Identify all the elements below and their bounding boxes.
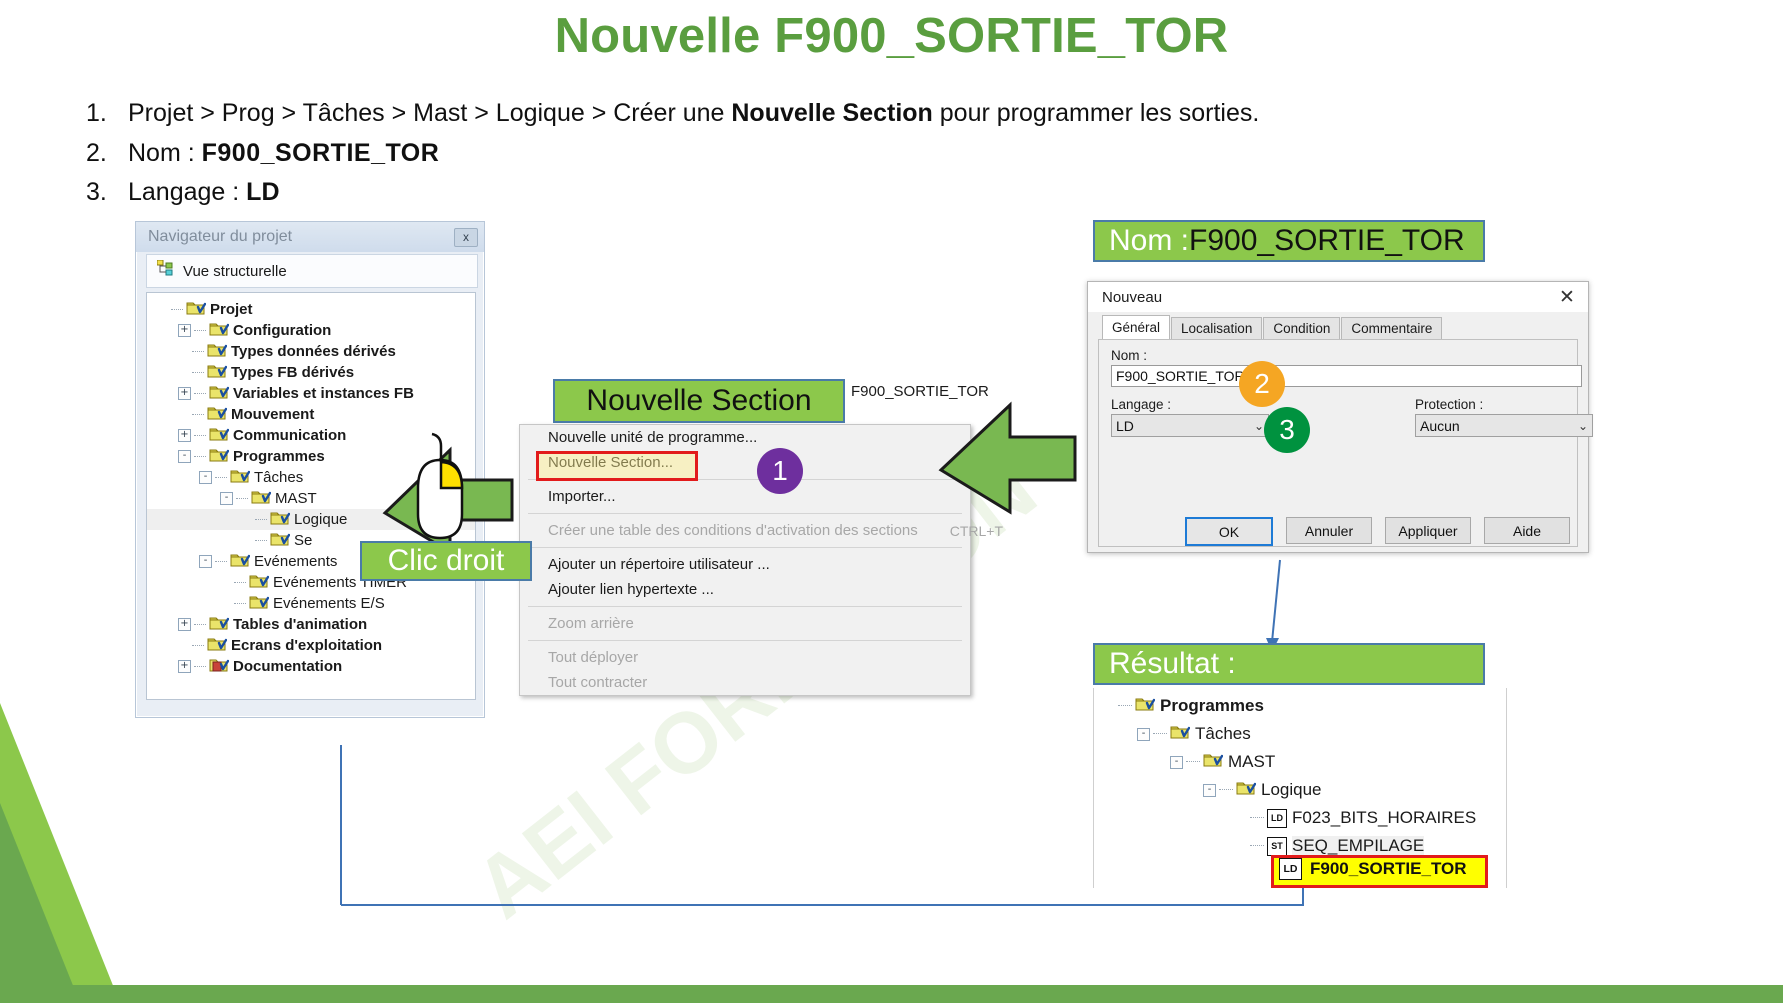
tree-item-configuration[interactable]: +Configuration — [147, 320, 475, 341]
tree-toggle[interactable]: + — [178, 324, 191, 337]
tree-item-types-fb-d-riv-s[interactable]: Types FB dérivés — [147, 362, 475, 383]
result-tree-item-label: SEQ_EMPILAGE — [1292, 836, 1424, 856]
documentation-icon — [209, 657, 229, 677]
result-tree-item-mast[interactable]: -MAST — [1098, 748, 1506, 776]
list-item: 3. Langage : LD — [86, 175, 1586, 211]
step-badge-3: 3 — [1264, 407, 1310, 453]
dialog-general-pane: Nom : F900_SORTIE_TOR Langage : LD⌄ Prot… — [1098, 339, 1578, 547]
tab-localisation[interactable]: Localisation — [1171, 317, 1262, 339]
menu-item-label: Importer... — [548, 488, 616, 505]
project-tree: Projet+ConfigurationTypes données dérivé… — [147, 293, 475, 677]
folder-icon — [270, 510, 290, 530]
result-tree-item-t-ches[interactable]: -Tâches — [1098, 720, 1506, 748]
result-highlighted-item[interactable]: LD F900_SORTIE_TOR — [1279, 858, 1467, 880]
result-tree-item-label: Tâches — [1195, 724, 1251, 744]
result-highlighted-label: F900_SORTIE_TOR — [1310, 859, 1467, 879]
list-item: 2. Nom : F900_SORTIE_TOR — [86, 136, 1586, 172]
nouveau-dialog: Nouveau ✕ GénéralLocalisationConditionCo… — [1087, 281, 1589, 553]
menu-separator — [528, 606, 962, 607]
result-tree-item-logique[interactable]: -Logique — [1098, 776, 1506, 804]
menu-separator — [528, 640, 962, 641]
navigator-titlebar: Navigateur du projet x — [136, 222, 484, 252]
nom-label: Nom : — [1111, 348, 1565, 363]
tree-toggle-spacer — [178, 367, 189, 378]
dialog-buttons: OKAnnulerAppliquerAide — [1088, 517, 1588, 546]
protection-label: Protection : — [1415, 397, 1593, 412]
step-text: Projet > Prog > Tâches > Mast > Logique … — [128, 96, 1259, 132]
folder-icon — [209, 426, 229, 446]
tree-toggle-spacer — [1104, 701, 1115, 712]
list-item: 1. Projet > Prog > Tâches > Mast > Logiq… — [86, 96, 1586, 132]
result-tree-item-label: F023_BITS_HORAIRES — [1292, 808, 1476, 828]
dialog-tabs: GénéralLocalisationConditionCommentaire — [1102, 316, 1588, 339]
folder-icon — [207, 342, 227, 362]
tree-toggle-spacer — [157, 304, 168, 315]
folder-icon — [209, 384, 229, 404]
tree-toggle[interactable]: - — [1170, 756, 1183, 769]
tree-item-label: Variables et instances FB — [233, 385, 414, 402]
project-navigator-window: Navigateur du projet x Vue structurelle … — [135, 221, 485, 718]
bottom-accent-bar — [0, 985, 1783, 1003]
tab-vue-structurelle[interactable]: Vue structurelle — [146, 254, 478, 288]
tab-label: Vue structurelle — [183, 263, 287, 280]
corner-decoration — [0, 583, 150, 1003]
chevron-down-icon: ⌄ — [1254, 419, 1264, 433]
section-preview-label: F900_SORTIE_TOR — [851, 383, 989, 400]
tree-item-ev-nements-e-s[interactable]: Evénements E/S — [147, 593, 475, 614]
menu-item-tout-contracter: Tout contracter — [520, 670, 970, 695]
result-tree-item-programmes[interactable]: Programmes — [1098, 692, 1506, 720]
result-tree-item-f023-bits-horaires[interactable]: LDF023_BITS_HORAIRES — [1098, 804, 1506, 832]
folder-icon — [209, 615, 229, 635]
page-title: Nouvelle F900_SORTIE_TOR — [0, 8, 1783, 64]
section-preview-item: LD F900_SORTIE_TOR — [824, 382, 989, 401]
tree-item-label: Evénements E/S — [273, 595, 385, 612]
tree-item-label: Tables d'animation — [233, 616, 367, 633]
tree-toggle[interactable]: - — [1137, 728, 1150, 741]
menu-item-label: Zoom arrière — [548, 615, 634, 632]
folder-icon — [1236, 780, 1256, 801]
callout-nom: Nom : F900_SORTIE_TOR — [1093, 220, 1485, 262]
step-number: 2. — [86, 136, 128, 172]
ok-button[interactable]: OK — [1185, 517, 1273, 546]
tab-condition[interactable]: Condition — [1263, 317, 1340, 339]
tab-commentaire[interactable]: Commentaire — [1341, 317, 1442, 339]
tree-item-programmes[interactable]: -Programmes — [147, 446, 475, 467]
tree-toggle-spacer — [241, 514, 252, 525]
folder-icon — [249, 594, 269, 614]
step-text: Langage : LD — [128, 175, 280, 211]
folder-icon — [209, 321, 229, 341]
folder-icon — [1170, 724, 1190, 745]
tree-item-label: Ecrans d'exploitation — [231, 637, 382, 654]
result-tree-item-label: Programmes — [1160, 696, 1264, 716]
tree-toggle-spacer — [220, 598, 231, 609]
menu-item-tout-d-ployer: Tout déployer — [520, 645, 970, 670]
folder-icon — [230, 468, 250, 488]
tree-item-projet[interactable]: Projet — [147, 299, 475, 320]
menu-item-label: Nouvelle unité de programme... — [548, 429, 757, 446]
menu-item-ajouter-un-r-pertoire-utilisateur[interactable]: Ajouter un répertoire utilisateur ... — [520, 552, 970, 577]
instruction-list: 1. Projet > Prog > Tâches > Mast > Logiq… — [86, 96, 1586, 215]
tree-item-tables-d-animation[interactable]: +Tables d'animation — [147, 614, 475, 635]
menu-item-nouvelle-unit-de-programme[interactable]: Nouvelle unité de programme... — [520, 425, 970, 450]
navigator-tree-area: Projet+ConfigurationTypes données dérivé… — [146, 292, 476, 700]
menu-item-label: Tout contracter — [548, 674, 647, 691]
result-tree-item-label: Logique — [1261, 780, 1322, 800]
menu-item-label: Ajouter lien hypertexte ... — [548, 581, 714, 598]
langage-select[interactable]: LD⌄ — [1111, 414, 1269, 437]
tree-toggle-spacer — [220, 577, 231, 588]
tree-item-label: Projet — [210, 301, 253, 318]
ld-icon: LD — [1267, 809, 1287, 828]
st-icon: ST — [1267, 837, 1287, 856]
folder-icon — [1135, 696, 1155, 717]
menu-separator — [528, 513, 962, 514]
nouvelle-section-highlight — [536, 451, 698, 481]
tree-item-label: Configuration — [233, 322, 331, 339]
tree-item-logique[interactable]: Logique — [147, 509, 475, 530]
result-tree-item-label: MAST — [1228, 752, 1275, 772]
navigator-title: Navigateur du projet — [148, 228, 454, 246]
callout-nouvelle-section: Nouvelle Section — [553, 379, 845, 423]
tree-toggle-spacer — [241, 535, 252, 546]
tree-toggle-spacer — [178, 409, 189, 420]
menu-item-label: Créer une table des conditions d'activat… — [548, 522, 918, 539]
tree-item-documentation[interactable]: +Documentation — [147, 656, 475, 677]
tree-item-types-donn-es-d-riv-s[interactable]: Types données dérivés — [147, 341, 475, 362]
tree-toggle[interactable]: + — [178, 660, 191, 673]
tree-item-label: Logique — [294, 511, 347, 528]
nom-input[interactable]: F900_SORTIE_TOR — [1111, 365, 1582, 387]
protection-select[interactable]: Aucun⌄ — [1415, 414, 1593, 437]
menu-item-importer[interactable]: Importer... — [520, 484, 970, 509]
tree-toggle[interactable]: - — [199, 555, 212, 568]
menu-item-cr-er-une-table-des-conditions-d-activat: Créer une table des conditions d'activat… — [520, 518, 970, 543]
callout-resultat: Résultat : — [1093, 643, 1485, 685]
folder-icon — [209, 447, 229, 467]
tree-item-label: Tâches — [254, 469, 303, 486]
folder-icon — [251, 489, 271, 509]
tree-toggle[interactable]: + — [178, 618, 191, 631]
tree-item-mouvement[interactable]: Mouvement — [147, 404, 475, 425]
tree-item-label: Programmes — [233, 448, 325, 465]
tree-toggle[interactable]: + — [178, 429, 191, 442]
close-icon[interactable]: x — [454, 228, 478, 247]
tree-item-variables-et-instances-fb[interactable]: +Variables et instances FB — [147, 383, 475, 404]
tree-item-label: Communication — [233, 427, 346, 444]
folder-icon — [207, 363, 227, 383]
dialog-title: Nouveau — [1102, 289, 1552, 306]
tree-toggle[interactable]: - — [1203, 784, 1216, 797]
tree-toggle[interactable]: + — [178, 387, 191, 400]
dialog-titlebar: Nouveau ✕ — [1088, 282, 1588, 312]
tree-toggle-spacer — [1236, 813, 1247, 824]
ld-icon: LD — [1279, 858, 1302, 880]
menu-item-shortcut: CTRL+T — [918, 523, 1003, 539]
tree-item-ecrans-d-exploitation[interactable]: Ecrans d'exploitation — [147, 635, 475, 656]
folder-icon — [207, 636, 227, 656]
tree-toggle[interactable]: - — [199, 471, 212, 484]
appliquer-button[interactable]: Appliquer — [1385, 517, 1471, 544]
step-badge-1: 1 — [757, 448, 803, 494]
tree-toggle-spacer — [178, 346, 189, 357]
tree-toggle-spacer — [178, 640, 189, 651]
tree-item-communication[interactable]: +Communication — [147, 425, 475, 446]
tree-item-label: Types données dérivés — [231, 343, 396, 360]
folder-icon — [230, 552, 250, 572]
tree-item-label: Evénements — [254, 553, 337, 570]
close-icon[interactable]: ✕ — [1552, 286, 1582, 309]
tree-item-mast[interactable]: -MAST — [147, 488, 475, 509]
structure-view-icon — [157, 260, 174, 282]
chevron-down-icon: ⌄ — [1578, 419, 1588, 433]
aide-button[interactable]: Aide — [1484, 517, 1570, 544]
tree-item-label: Documentation — [233, 658, 342, 675]
tab-g-n-ral[interactable]: Général — [1102, 315, 1170, 339]
step-text: Nom : F900_SORTIE_TOR — [128, 136, 439, 172]
step-badge-2: 2 — [1239, 361, 1285, 407]
folder-icon — [270, 531, 290, 551]
folder-icon — [249, 573, 269, 593]
step-number: 1. — [86, 96, 128, 132]
menu-item-zoom-arri-re: Zoom arrière — [520, 611, 970, 636]
tree-toggle[interactable]: - — [178, 450, 191, 463]
tree-toggle-spacer — [1236, 841, 1247, 852]
tree-toggle[interactable]: - — [220, 492, 233, 505]
tree-item-label: Se — [294, 532, 312, 549]
step-number: 3. — [86, 175, 128, 211]
callout-clic-droit: Clic droit — [360, 541, 532, 581]
menu-item-label: Ajouter un répertoire utilisateur ... — [548, 556, 770, 573]
tree-item-t-ches[interactable]: -Tâches — [147, 467, 475, 488]
menu-item-label: Tout déployer — [548, 649, 638, 666]
menu-item-ajouter-lien-hypertexte[interactable]: Ajouter lien hypertexte ... — [520, 577, 970, 602]
annuler-button[interactable]: Annuler — [1286, 517, 1372, 544]
folder-icon — [1203, 752, 1223, 773]
tree-item-label: MAST — [275, 490, 317, 507]
tree-item-label: Types FB dérivés — [231, 364, 354, 381]
menu-separator — [528, 547, 962, 548]
tree-item-label: Mouvement — [231, 406, 314, 423]
folder-icon — [186, 300, 206, 320]
folder-icon — [207, 405, 227, 425]
